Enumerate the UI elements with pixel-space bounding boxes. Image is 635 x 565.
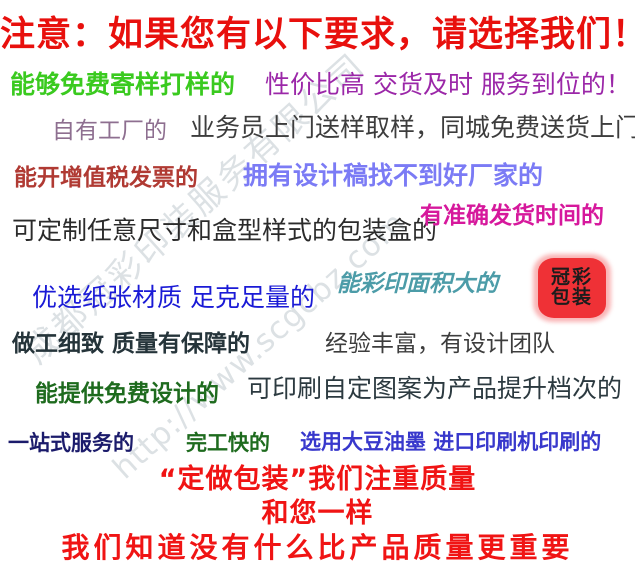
- feature-has-design-no-factory: 拥有设计稿找不到好厂家的: [243, 163, 543, 188]
- feature-vat-invoice: 能开增值税发票的: [14, 167, 198, 190]
- feature-experienced-design-team: 经验丰富，有设计团队: [325, 333, 555, 356]
- feature-fine-workmanship: 做工细致 质量有保障的: [12, 333, 250, 356]
- feature-large-area-color-print: 能彩印面积大的: [337, 272, 498, 295]
- feature-own-factory: 自有工厂的: [52, 120, 167, 143]
- headline: 注意：如果您有以下要求，请选择我们！: [0, 18, 635, 53]
- feature-free-design: 能提供免费设计的: [35, 383, 219, 406]
- feature-custom-pattern-printing: 可印刷自定图案为产品提升档次的: [247, 376, 622, 401]
- feature-fast-completion: 完工快的: [186, 433, 270, 454]
- feature-accurate-delivery-time: 有准确发货时间的: [420, 205, 604, 228]
- closing-line-3: 我们知道没有什么比产品质量更重要: [0, 534, 635, 562]
- feature-value-delivery-service: 性价比高 交货及时 服务到位的！: [265, 72, 631, 97]
- feature-salesperson-door-to-door: 业务员上门送样取样，同城免费送货上门的: [190, 115, 635, 140]
- logo-text-line1: 冠彩: [551, 268, 593, 288]
- feature-free-sample: 能够免费寄样打样的: [10, 72, 235, 97]
- closing-line-1: “定做包装”我们注重质量: [0, 466, 635, 493]
- feature-quality-paper: 优选纸张材质 足克足量的: [32, 285, 315, 310]
- content-layer: 注意：如果您有以下要求，请选择我们！ 能够免费寄样打样的 性价比高 交货及时 服…: [0, 0, 635, 565]
- logo-text-line2: 包装: [551, 288, 593, 308]
- promo-banner: 成都冠彩印装服务有限公司 http://www.scgcbz.com 注意：如果…: [0, 0, 635, 565]
- feature-custom-size-shape: 可定制任意尺寸和盒型样式的包装盒的: [12, 218, 437, 243]
- feature-soy-ink-imported-press: 选用大豆油墨 进口印刷机印刷的: [300, 432, 601, 453]
- feature-one-stop-service: 一站式服务的: [8, 433, 134, 454]
- closing-line-2: 和您一样: [0, 500, 635, 527]
- logo-plate: 冠彩 包装: [538, 258, 606, 318]
- company-logo-badge[interactable]: 冠彩 包装: [533, 254, 611, 322]
